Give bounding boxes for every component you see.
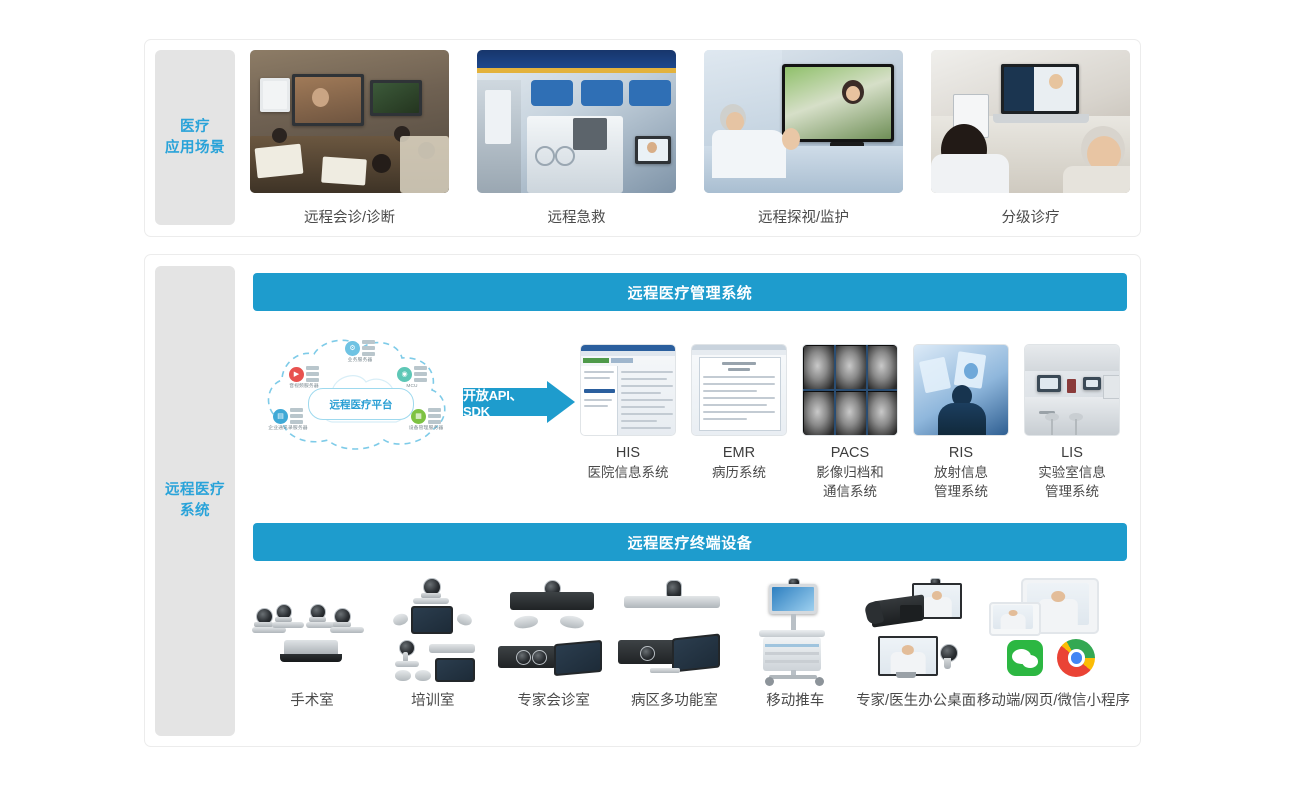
server-stack-icon <box>290 408 303 424</box>
node-left-lower: ▤ 企业通讯录服务器 <box>260 408 316 431</box>
device-caption: 培训室 <box>411 689 455 710</box>
device-caption: 移动端/网页/微信小程序 <box>977 689 1130 710</box>
scenario-item-list: 远程会诊/诊断 远程急救 <box>250 50 1130 230</box>
open-api-sdk-arrow: 开放API、SDK <box>463 381 575 423</box>
directory-server-icon: ▤ <box>273 409 288 424</box>
system-name: 影像归档和 通信系统 <box>802 463 898 501</box>
cloud-platform-label: 远程医疗平台 <box>308 388 414 420</box>
video-conference-room-photo <box>250 50 449 193</box>
server-stack-icon <box>306 366 319 382</box>
his-screenshot <box>580 344 676 436</box>
ward-multifunction-room-endpoints <box>614 578 734 683</box>
system-item-his[interactable]: HIS 医院信息系统 <box>580 344 676 509</box>
scenario-caption: 远程急救 <box>477 206 676 227</box>
pacs-ct-images <box>802 344 898 436</box>
doctor-laptop-consult-photo <box>931 50 1130 193</box>
patient-bedside-tv-visit-photo <box>704 50 903 193</box>
scenario-item[interactable]: 远程探视/监护 <box>704 50 903 230</box>
scenario-item[interactable]: 分级诊疗 <box>931 50 1130 230</box>
system-abbr: EMR <box>691 445 787 461</box>
device-caption: 移动推车 <box>766 689 824 710</box>
system-abbr: PACS <box>802 445 898 461</box>
system-name: 实验室信息 管理系统 <box>1024 463 1120 501</box>
system-name: 放射信息 管理系统 <box>913 463 1009 501</box>
ambulance-interior-photo <box>477 50 676 193</box>
desktop-phone-and-monitor <box>856 578 976 683</box>
emr-screenshot <box>691 344 787 436</box>
arrow-head-icon <box>547 381 575 423</box>
scenario-caption: 分级诊疗 <box>931 206 1130 227</box>
expert-consult-room-endpoints <box>494 578 614 683</box>
device-item-mobile-web-wechat[interactable]: 移动端/网页/微信小程序 <box>977 578 1130 723</box>
ris-radiologist-photo <box>913 344 1009 436</box>
gear-server-icon: ⚙ <box>345 341 360 356</box>
scenario-side-label: 医疗 应用场景 <box>155 50 235 225</box>
system-item-pacs[interactable]: PACS 影像归档和 通信系统 <box>802 344 898 509</box>
hospital-system-list: HIS 医院信息系统 EMR 病历系统 <box>580 344 1133 509</box>
media-server-icon: ▶ <box>289 367 304 382</box>
system-item-ris[interactable]: RIS 放射信息 管理系统 <box>913 344 1009 509</box>
node-top: ⚙ 业务服务器 <box>332 340 388 363</box>
node-caption: 企业通讯录服务器 <box>256 425 320 432</box>
operating-room-endpoints <box>252 578 372 683</box>
terminal-device-list: 手术室 培训室 <box>252 578 1130 723</box>
scenario-item[interactable]: 远程会诊/诊断 <box>250 50 449 230</box>
lis-laboratory-photo <box>1024 344 1120 436</box>
device-item-training-room[interactable]: 培训室 <box>373 578 493 723</box>
system-abbr: HIS <box>580 445 676 461</box>
telemedicine-cloud-platform: ⚙ 业务服务器 ▶ 音视频服务器 ◉ MCU ▤ 企业通讯录服务器 <box>262 336 458 454</box>
server-stack-icon <box>414 366 427 382</box>
server-stack-icon <box>428 408 441 424</box>
mobile-web-wechat-miniprogram <box>983 578 1123 683</box>
device-item-doctor-desktop[interactable]: 专家/医生办公桌面 <box>856 578 976 723</box>
system-item-lis[interactable]: LIS 实验室信息 管理系统 <box>1024 344 1120 509</box>
system-item-emr[interactable]: EMR 病历系统 <box>691 344 787 509</box>
scenario-item[interactable]: 远程急救 <box>477 50 676 230</box>
server-stack-icon <box>362 340 375 356</box>
node-caption: 设备管理服务器 <box>394 425 458 432</box>
node-caption: 业务服务器 <box>328 357 392 364</box>
node-right-upper: ◉ MCU <box>384 366 440 388</box>
system-side-label-line1: 远程医疗 <box>165 480 225 501</box>
scenario-side-label-line2: 应用场景 <box>165 138 225 159</box>
device-item-ward-multifunction-room[interactable]: 病区多功能室 <box>614 578 734 723</box>
system-side-label-line2: 系统 <box>165 501 225 522</box>
device-mgmt-server-icon: ▦ <box>411 409 426 424</box>
device-caption: 专家会诊室 <box>517 689 590 710</box>
system-name: 病历系统 <box>691 463 787 482</box>
device-item-expert-consult-room[interactable]: 专家会诊室 <box>494 578 614 723</box>
system-name: 医院信息系统 <box>580 463 676 482</box>
mcu-server-icon: ◉ <box>397 367 412 382</box>
device-caption: 病区多功能室 <box>631 689 718 710</box>
api-arrow-label: 开放API、SDK <box>463 388 548 416</box>
management-band-label: 远程医疗管理系统 <box>628 282 753 303</box>
terminal-band-label: 远程医疗终端设备 <box>628 532 753 553</box>
node-left-upper: ▶ 音视频服务器 <box>276 366 332 389</box>
device-item-operating-room[interactable]: 手术室 <box>252 578 372 723</box>
scenario-caption: 远程会诊/诊断 <box>250 206 449 227</box>
terminal-device-band: 远程医疗终端设备 <box>253 523 1127 561</box>
system-side-label: 远程医疗 系统 <box>155 266 235 736</box>
chrome-icon[interactable] <box>1057 639 1095 677</box>
management-system-band: 远程医疗管理系统 <box>253 273 1127 311</box>
scenario-side-label-line1: 医疗 <box>165 117 225 138</box>
device-item-mobile-cart[interactable]: 移动推车 <box>735 578 855 723</box>
scenario-caption: 远程探视/监护 <box>704 206 903 227</box>
system-abbr: LIS <box>1024 445 1120 461</box>
infographic-root: 医疗 应用场景 远程会诊/诊断 <box>0 0 1301 794</box>
mobile-cart-endpoint <box>735 578 855 683</box>
wechat-icon[interactable] <box>1007 640 1043 676</box>
system-abbr: RIS <box>913 445 1009 461</box>
device-caption: 手术室 <box>290 689 334 710</box>
training-room-endpoints <box>373 578 493 683</box>
device-caption: 专家/医生办公桌面 <box>856 689 976 710</box>
